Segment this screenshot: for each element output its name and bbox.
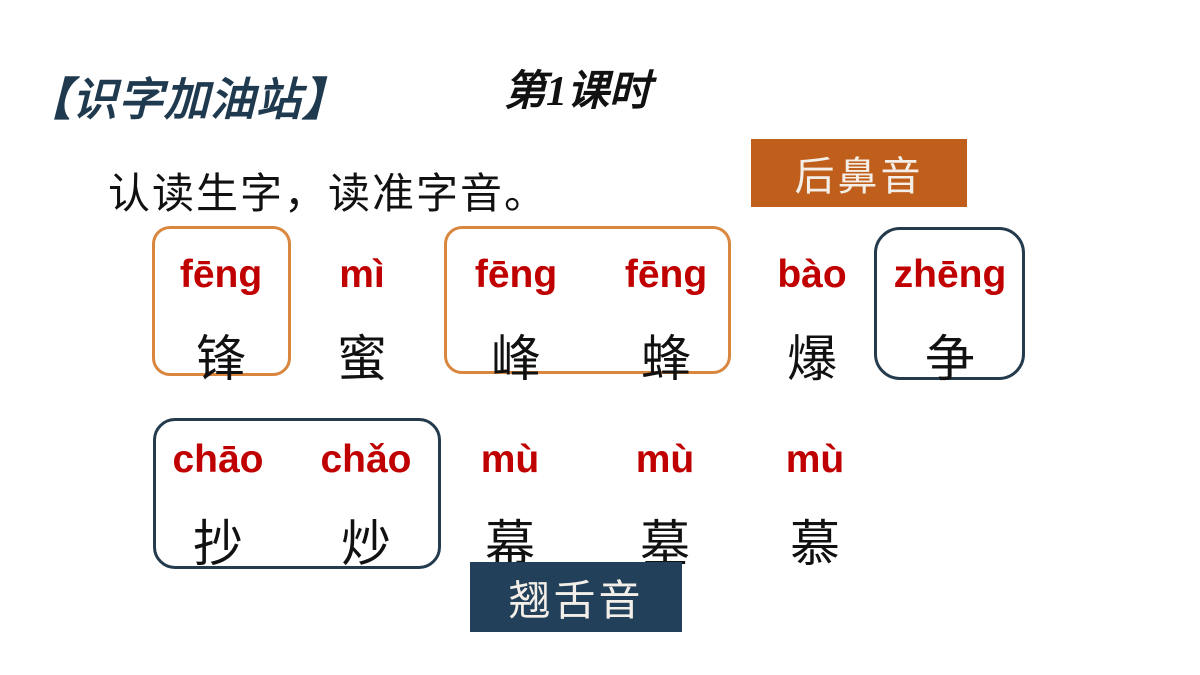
pinyin-label: bào [732, 255, 892, 294]
word-cell-mu-2: mù 墓 [585, 440, 745, 569]
hanzi-label: 蜜 [282, 334, 442, 384]
pinyin-label: chǎo [286, 440, 446, 479]
hanzi-label: 爆 [732, 334, 892, 384]
pinyin-label: fēng [436, 255, 596, 294]
pinyin-label: mù [585, 440, 745, 479]
pinyin-label: mì [282, 255, 442, 294]
word-cell-chao-1: chāo 抄 [138, 440, 298, 569]
hanzi-label: 慕 [735, 519, 895, 569]
word-cell-chao-2: chǎo 炒 [286, 440, 446, 569]
hanzi-label: 抄 [138, 519, 298, 569]
hanzi-label: 锋 [141, 334, 301, 384]
word-cell-mi: mì 蜜 [282, 255, 442, 384]
word-cell-zheng: zhēng 争 [870, 255, 1030, 384]
hanzi-label: 峰 [436, 334, 596, 384]
badge-retroflex: 翘舌音 [470, 562, 682, 632]
word-cell-mu-1: mù 幕 [430, 440, 590, 569]
pinyin-label: mù [430, 440, 590, 479]
pinyin-label: zhēng [870, 255, 1030, 294]
lesson-label: 第1课时 [504, 57, 651, 118]
word-cell-bao: bào 爆 [732, 255, 892, 384]
slide-canvas: 【识字加油站】 第1课时 认读生字，读准字音。 后鼻音 翘舌音 fēng 锋 m… [0, 0, 1200, 675]
word-cell-feng-2: fēng 峰 [436, 255, 596, 384]
pinyin-label: chāo [138, 440, 298, 479]
word-cell-mu-3: mù 慕 [735, 440, 895, 569]
word-cell-feng-1: fēng 锋 [141, 255, 301, 384]
pinyin-label: fēng [586, 255, 746, 294]
hanzi-label: 炒 [286, 519, 446, 569]
page-title: 【识字加油站】 [26, 63, 348, 128]
pinyin-label: mù [735, 440, 895, 479]
pinyin-label: fēng [141, 255, 301, 294]
instruction-text: 认读生字，读准字音。 [108, 160, 548, 221]
hanzi-label: 争 [870, 334, 1030, 384]
hanzi-label: 蜂 [586, 334, 746, 384]
word-cell-feng-3: fēng 蜂 [586, 255, 746, 384]
badge-back-nasal: 后鼻音 [751, 139, 967, 207]
